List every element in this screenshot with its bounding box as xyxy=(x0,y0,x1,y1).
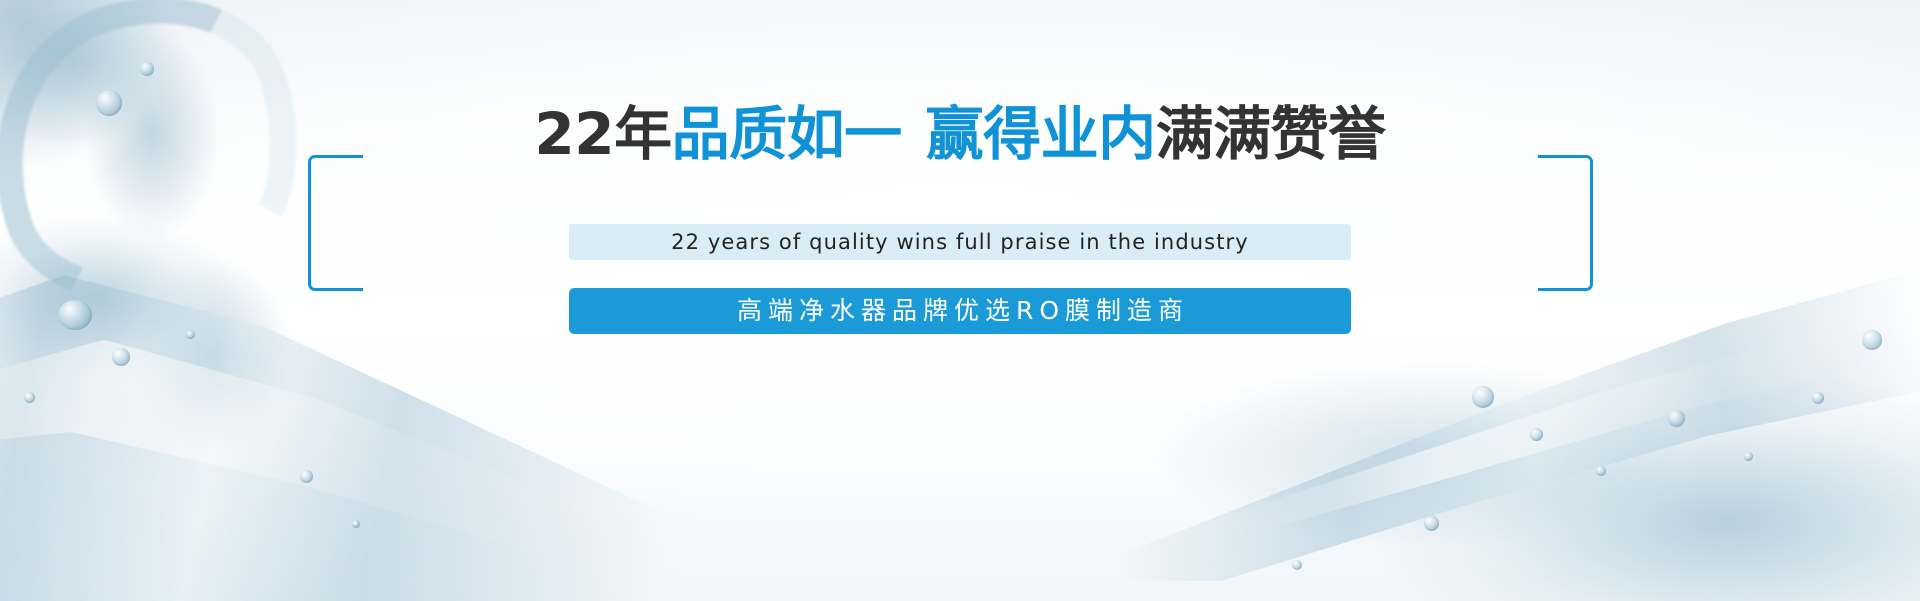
subtitle-chinese-bar: 高端净水器品牌优选RO膜制造商 xyxy=(569,288,1351,334)
right-bracket-decoration xyxy=(1538,155,1593,291)
subtitle-english-bar: 22 years of quality wins full praise in … xyxy=(569,224,1351,260)
headline-part-years: 22年 xyxy=(534,100,671,168)
headline-part-quality: 品质如一 xyxy=(672,100,902,168)
headline-part-wins: 赢得业内 xyxy=(926,100,1156,168)
headline: 22年品质如一赢得业内满满赞誉 xyxy=(0,100,1920,168)
left-bracket-decoration xyxy=(308,155,363,291)
hero-banner: 22年品质如一赢得业内满满赞誉 22 years of quality wins… xyxy=(0,0,1920,601)
banner-content: 22年品质如一赢得业内满满赞誉 22 years of quality wins… xyxy=(0,0,1920,601)
headline-part-praise: 满满赞誉 xyxy=(1156,100,1386,168)
